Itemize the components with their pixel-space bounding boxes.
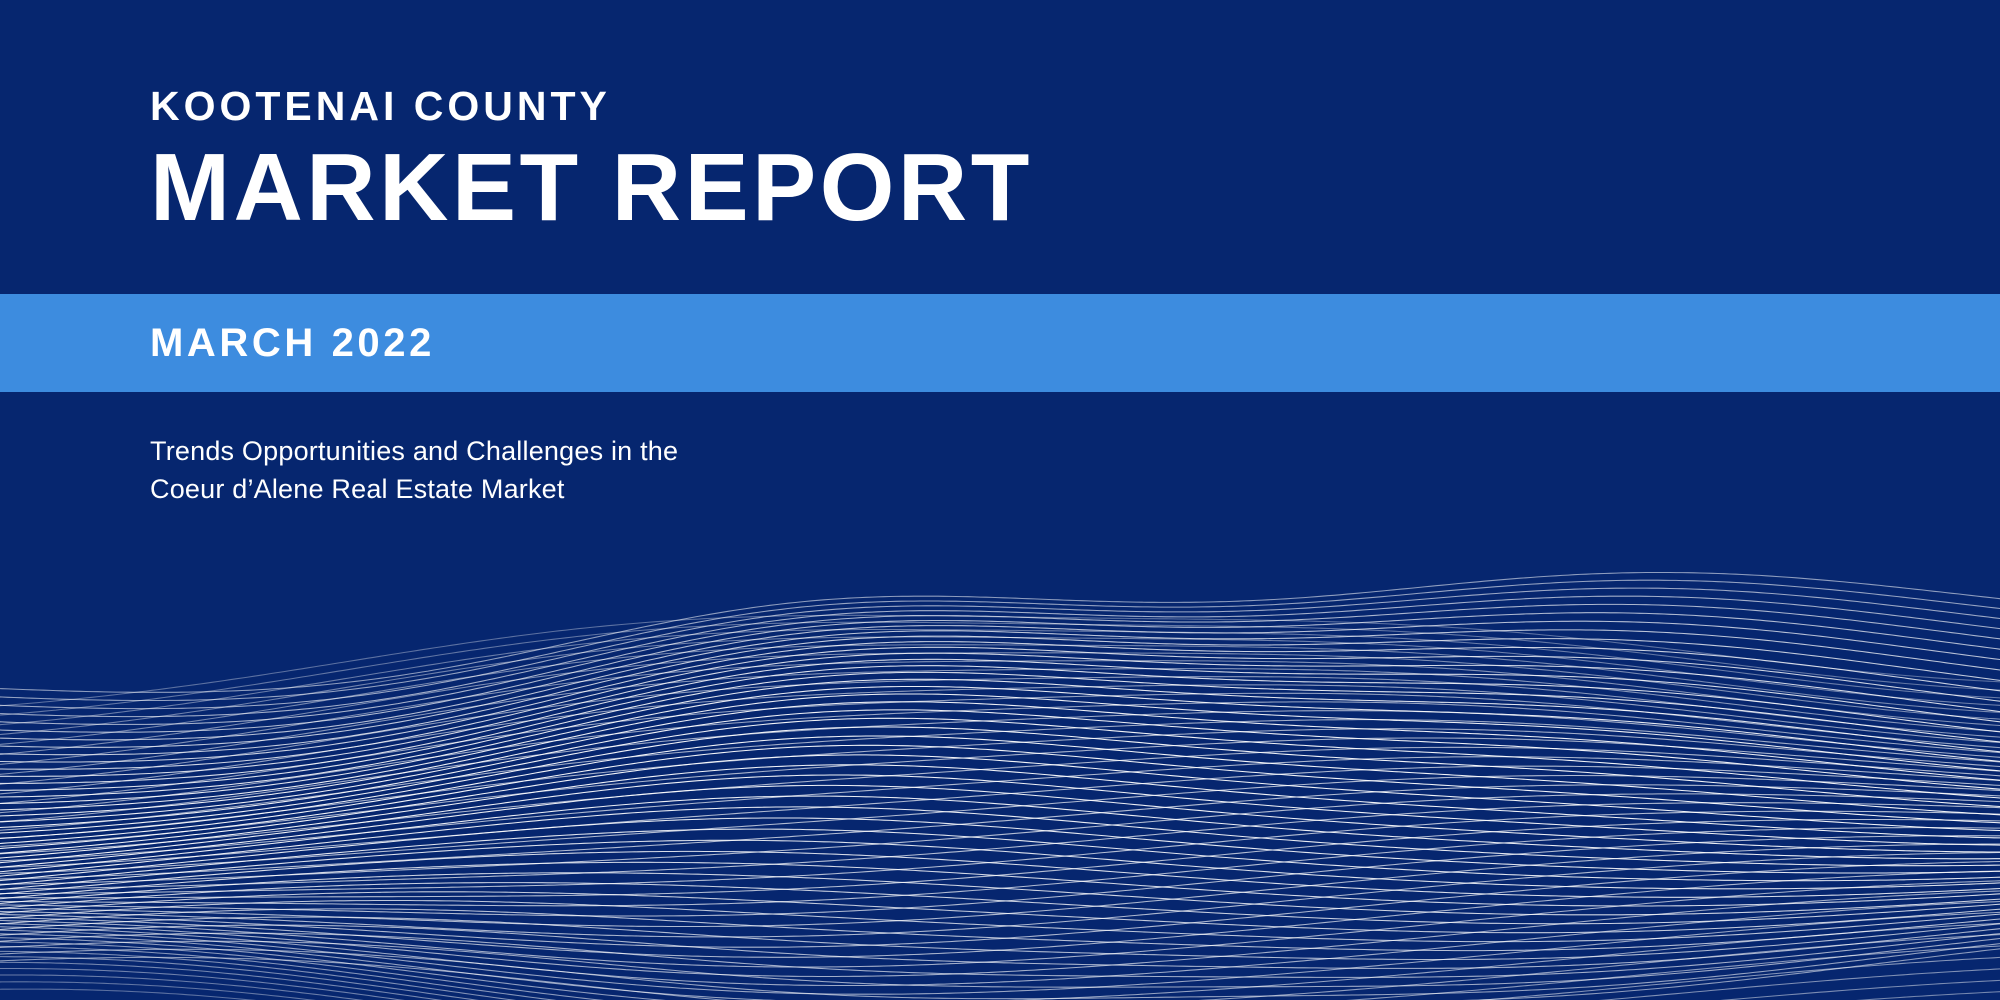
title-block: KOOTENAI COUNTY MARKET REPORT [150, 86, 1033, 234]
subtitle-line-2: Coeur d’Alene Real Estate Market [150, 470, 678, 508]
eyebrow-text: KOOTENAI COUNTY [150, 86, 1033, 127]
report-cover-page: KOOTENAI COUNTY MARKET REPORT MARCH 2022… [0, 0, 2000, 1000]
date-label: MARCH 2022 [150, 323, 435, 363]
date-band: MARCH 2022 [0, 294, 2000, 392]
subtitle-line-1: Trends Opportunities and Challenges in t… [150, 432, 678, 470]
page-title: MARKET REPORT [150, 141, 1033, 234]
subtitle: Trends Opportunities and Challenges in t… [150, 432, 678, 508]
